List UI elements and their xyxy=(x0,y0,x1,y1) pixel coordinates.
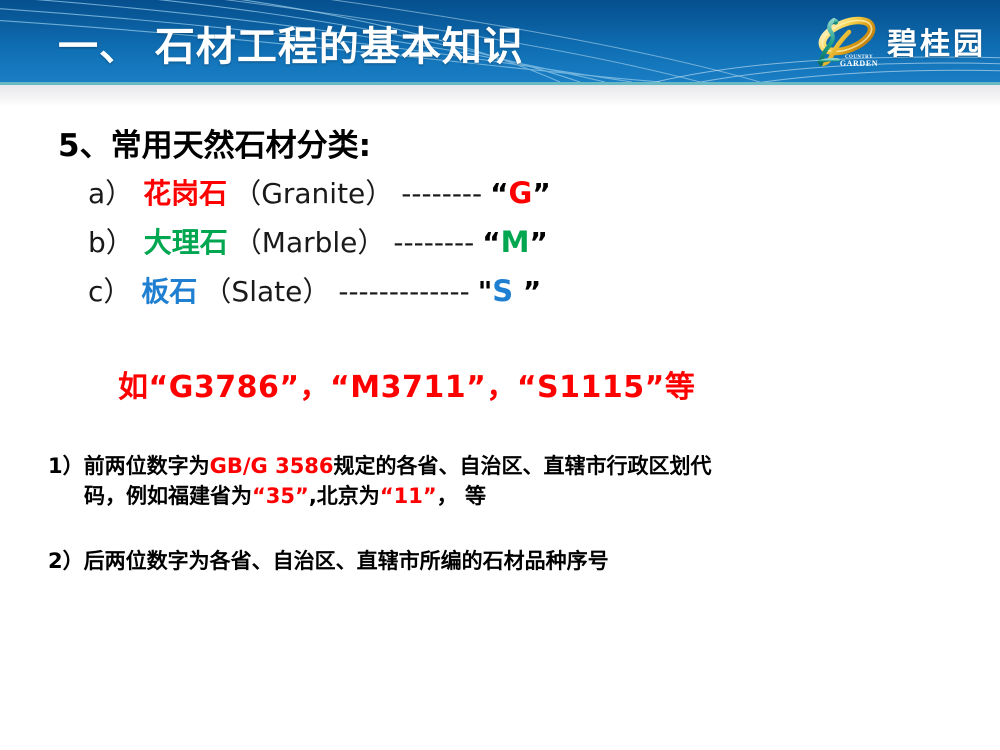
note-number: 1） xyxy=(48,452,84,482)
header-fade-gradient xyxy=(0,85,1000,107)
slide-header: 一、 石材工程的基本知识 xyxy=(0,0,1000,82)
list-item: b）大理石（Marble）--------“M” xyxy=(88,218,948,267)
item-quote-open: “ xyxy=(490,177,508,210)
item-quote-close: ” xyxy=(513,275,541,308)
note-text-b: 规定的各省、自治区、直辖市行政区划代 xyxy=(334,454,712,478)
item-term: 板石 xyxy=(141,275,197,308)
logo-wordmark: 碧桂园 xyxy=(887,19,986,63)
list-item: a）花岗石（Granite）--------“G” xyxy=(88,169,948,218)
note-second-line: 码，例如福建省为“35”,北京为“11”， 等 xyxy=(48,482,948,512)
section-heading: 5、常用天然石材分类: xyxy=(58,120,371,165)
item-english: （Slate） xyxy=(203,275,330,308)
example-code-line: 如“G3786”，“M3711”，“S1115”等 xyxy=(118,362,695,406)
item-marker: c） xyxy=(88,275,131,308)
list-item: c）板石（Slate）-------------"S ” xyxy=(88,267,948,316)
item-code: S xyxy=(492,274,513,308)
item-dashes: -------- xyxy=(401,177,482,210)
company-logo: COUNTRY GARDEN 碧桂园 xyxy=(805,8,986,74)
item-marker: b） xyxy=(88,226,134,259)
item-term: 大理石 xyxy=(144,226,228,259)
item-quote-open: " xyxy=(478,275,493,308)
item-dashes: -------- xyxy=(393,226,474,259)
note-text-e: ， 等 xyxy=(437,484,486,508)
note-text-d: ,北京为 xyxy=(309,484,380,508)
item-quote-close: ” xyxy=(530,226,548,259)
slide-body: 5、常用天然石材分类: a）花岗石（Granite）--------“G” b）… xyxy=(0,107,1000,750)
note-item-1: 1）前两位数字为GB/G 3586规定的各省、自治区、直辖市行政区划代 码，例如… xyxy=(48,452,948,512)
logo-subtext-line2: GARDEN xyxy=(835,60,883,68)
page-title: 一、 石材工程的基本知识 xyxy=(58,14,524,72)
item-dashes: ------------- xyxy=(338,275,469,308)
item-code: M xyxy=(501,225,530,259)
item-english: （Marble） xyxy=(234,226,386,259)
note-text-c: 码，例如福建省为 xyxy=(84,484,252,508)
note-text-a: 前两位数字为 xyxy=(84,454,210,478)
item-quote-open: “ xyxy=(482,226,500,259)
classification-list: a）花岗石（Granite）--------“G” b）大理石（Marble）-… xyxy=(88,169,948,316)
country-garden-emblem-icon: COUNTRY GARDEN xyxy=(805,10,883,72)
item-english: （Granite） xyxy=(233,177,393,210)
note-text: 后两位数字为各省、自治区、直辖市所编的石材品种序号 xyxy=(84,549,609,573)
item-term: 花岗石 xyxy=(143,177,227,210)
note-highlight-beijing: “11” xyxy=(380,484,437,508)
logo-subtext: COUNTRY GARDEN xyxy=(835,55,883,68)
item-marker: a） xyxy=(88,177,133,210)
note-number: 2） xyxy=(48,547,84,577)
item-code: G xyxy=(509,176,533,210)
note-item-2: 2）后两位数字为各省、自治区、直辖市所编的石材品种序号 xyxy=(48,547,948,577)
note-highlight-fujian: “35” xyxy=(252,484,309,508)
note-highlight-standard: GB/G 3586 xyxy=(210,454,334,478)
item-quote-close: ” xyxy=(532,177,550,210)
